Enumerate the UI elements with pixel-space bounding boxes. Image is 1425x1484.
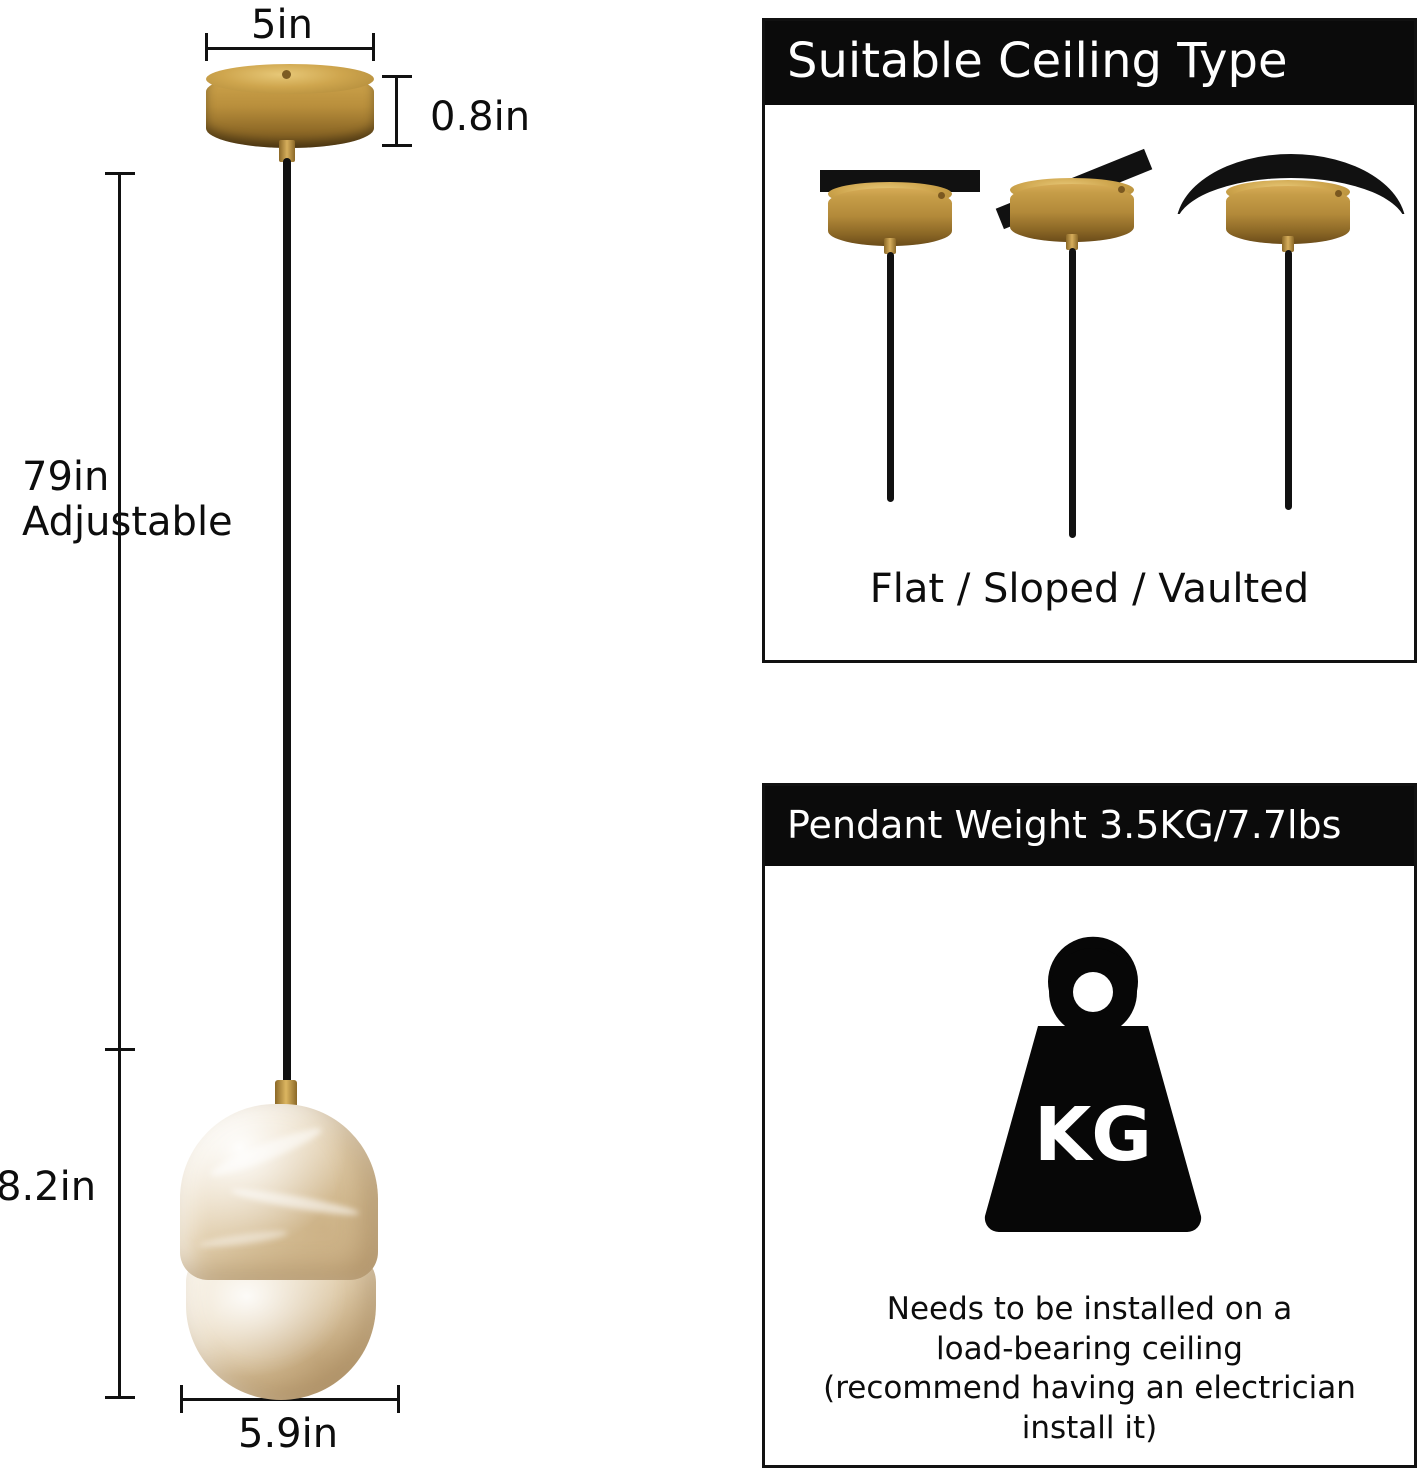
ceiling-panel-title: Suitable Ceiling Type [765,21,1414,105]
hanging-cord [283,158,291,1088]
dimension-canopy-width-line [205,47,375,50]
dimension-canopy-height-line [395,75,398,147]
weight-note-line-2: load-bearing ceiling [772,1330,1407,1370]
dimension-cord-length-tick-middle [105,1048,135,1051]
vaulted-canopy-screw-icon [1335,190,1342,197]
dimension-canopy-width-tick-right [372,33,375,61]
dimension-canopy-width-label: 5in [251,3,313,48]
sloped-canopy-screw-icon [1118,186,1125,193]
kg-weight-icon: KG [968,930,1218,1240]
weight-note-line-1: Needs to be installed on a [772,1290,1407,1330]
weight-panel-title: Pendant Weight 3.5KG/7.7lbs [765,786,1414,866]
marble-vein [198,1228,289,1250]
dimension-shade-width-tick-right [397,1385,400,1413]
dimension-cord-length-adjustable: Adjustable [22,500,233,545]
canopy-screw-icon [282,70,291,79]
dimension-canopy-width-tick-left [205,33,208,61]
dimension-canopy-height-tick-top [382,75,412,78]
dimension-cord-length-line [118,172,121,1398]
marble-vein [207,1122,324,1182]
canopy-top-face [206,64,374,94]
dimension-cord-length-value: 79in [22,455,233,500]
dimension-canopy-height-tick-bottom [382,144,412,147]
dimension-shade-height-label: 8.2in [0,1165,96,1210]
dimension-cord-length-tick-bottom [105,1396,135,1399]
flat-canopy-screw-icon [938,192,945,199]
weight-note-line-3: (recommend having an electrician install… [772,1369,1407,1448]
svg-text:KG: KG [1034,1092,1152,1178]
flat-canopy-cord [887,252,894,502]
weight-installation-note: Needs to be installed on a load-bearing … [772,1290,1407,1449]
pendant-dimension-diagram: 5in 0.8in 79in Adjustable 8.2in 5.9in [0,0,752,1484]
dimension-shade-width-tick-left [180,1385,183,1413]
dimension-cord-length-label: 79in Adjustable [22,455,233,545]
dimension-cord-length-tick-top [105,172,135,175]
marble-vein [230,1185,360,1219]
sloped-canopy-cord [1069,248,1076,538]
vaulted-canopy-cord [1285,250,1292,510]
ceiling-type-caption: Flat / Sloped / Vaulted [762,566,1417,612]
alabaster-upper-shade [180,1104,378,1280]
dimension-canopy-height-label: 0.8in [430,95,530,140]
dimension-shade-width-label: 5.9in [238,1412,338,1457]
